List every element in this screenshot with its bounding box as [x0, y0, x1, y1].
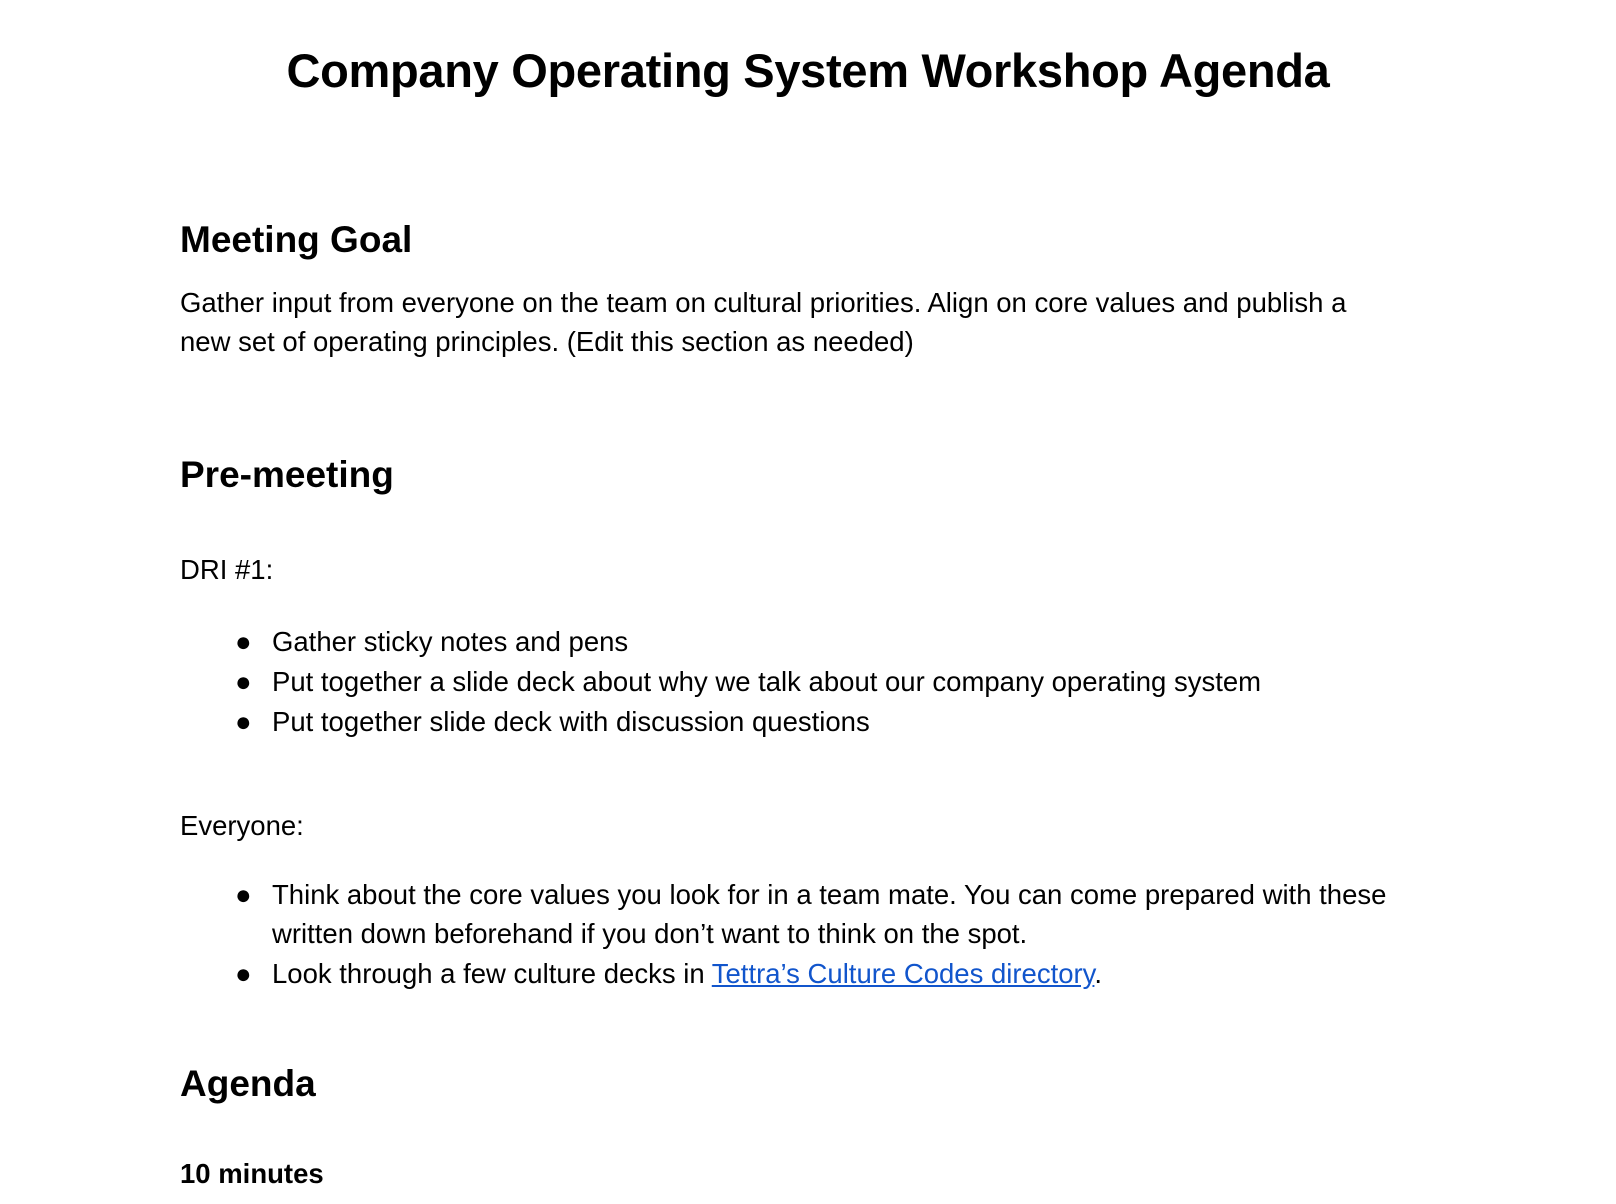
- list-item-label: Put together a slide deck about why we t…: [272, 666, 1261, 697]
- section-heading-agenda: Agenda: [180, 994, 1436, 1106]
- bullet-disc-icon: ●: [235, 662, 252, 701]
- page-title: Company Operating System Workshop Agenda: [180, 0, 1436, 98]
- document-page: Company Operating System Workshop Agenda…: [0, 0, 1616, 1204]
- everyone-label: Everyone:: [180, 742, 1436, 845]
- section-heading-meeting-goal: Meeting Goal: [180, 98, 1436, 262]
- list-item: ● Gather sticky notes and pens: [180, 622, 1436, 661]
- bullet-disc-icon: ●: [235, 875, 252, 914]
- list-item-label: Think about the core values you look for…: [272, 879, 1386, 949]
- culture-codes-directory-link[interactable]: Tettra’s Culture Codes directory: [712, 958, 1095, 989]
- meeting-goal-paragraph: Gather input from everyone on the team o…: [180, 262, 1375, 361]
- list-item: ● Look through a few culture decks in Te…: [180, 954, 1436, 993]
- list-item: ● Put together slide deck with discussio…: [180, 702, 1436, 741]
- list-item: ● Put together a slide deck about why we…: [180, 662, 1436, 701]
- list-item-label-prefix: Look through a few culture decks in: [272, 958, 712, 989]
- section-heading-pre-meeting: Pre-meeting: [180, 362, 1436, 497]
- dri-task-list: ● Gather sticky notes and pens ● Put tog…: [180, 589, 1436, 741]
- everyone-task-list: ● Think about the core values you look f…: [180, 845, 1436, 993]
- list-item-label: Put together slide deck with discussion …: [272, 706, 870, 737]
- dri-label: DRI #1:: [180, 497, 1436, 589]
- bullet-disc-icon: ●: [235, 622, 252, 661]
- bullet-disc-icon: ●: [235, 954, 252, 993]
- list-item-label: Gather sticky notes and pens: [272, 626, 628, 657]
- bullet-disc-icon: ●: [235, 702, 252, 741]
- agenda-item-duration: 10 minutes: [180, 1107, 1436, 1193]
- list-item: ● Think about the core values you look f…: [180, 875, 1436, 953]
- list-item-label-suffix: .: [1094, 958, 1102, 989]
